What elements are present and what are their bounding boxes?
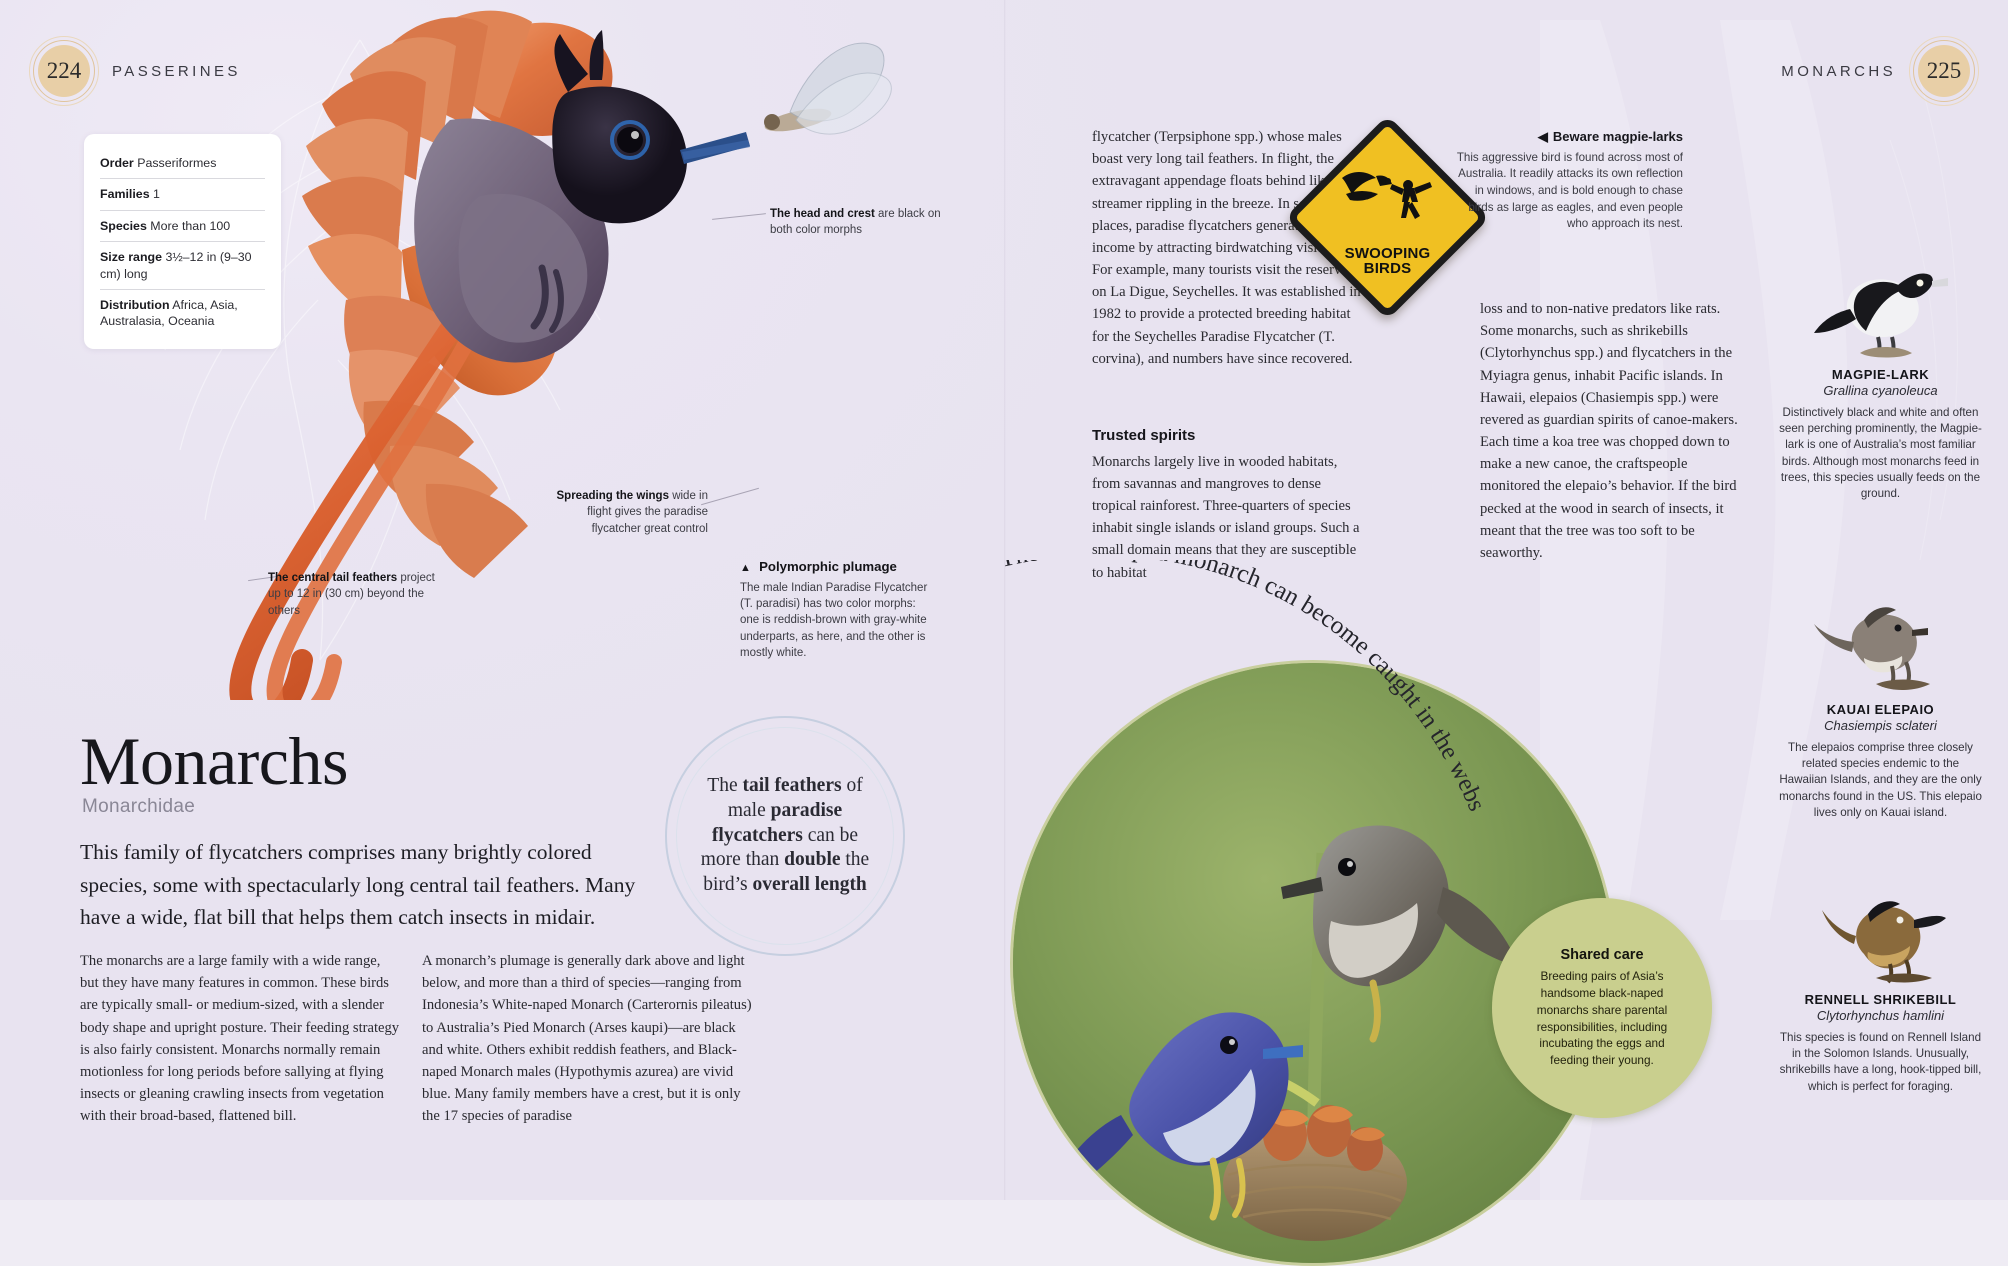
species-card-kauai-elepaio: KAUAI ELEPAIO Chasiempis sclateri The el… [1778, 580, 1983, 821]
page-gutter [1004, 0, 1006, 1200]
pull-quote-part-7: overall length [753, 874, 867, 895]
callout-central-tail-title: The central tail feathers [268, 572, 397, 584]
magpie-lark-photo [1778, 245, 1983, 361]
pull-quote-part-2: of male [728, 775, 863, 821]
info-row-families: Families 1 [100, 179, 265, 210]
callout-polymorphic-body: The male Indian Paradise Flycatcher (T. … [740, 582, 927, 659]
callout-polymorphic-title: Polymorphic plumage [759, 559, 897, 574]
leader-line-wings [701, 488, 759, 505]
callout-head-and-crest: The head and crest are black on both col… [770, 206, 950, 239]
sign-text-line2: BIRDS [1364, 261, 1412, 277]
running-head-right: MONARCHS [1781, 63, 1896, 80]
info-label-species: Species [100, 219, 147, 233]
body-column-right-c: loss and to non-native predators like ra… [1480, 298, 1748, 564]
family-name: Monarchidae [82, 796, 195, 818]
rennell-shrikebill-name: RENNELL SHRIKEBILL [1778, 992, 1983, 1007]
swooping-birds-sign: SWOOPING BIRDS [1288, 118, 1473, 303]
taxonomy-info-box: Order Passeriformes Families 1 Species M… [84, 134, 281, 349]
standfirst-paragraph: This family of flycatchers comprises man… [80, 836, 650, 934]
sign-text-line1: SWOOPING [1345, 246, 1431, 262]
info-value-species: More than 100 [150, 219, 230, 233]
info-row-distribution: Distribution Africa, Asia, Australasia, … [100, 290, 265, 337]
kauai-elepaio-description: The elepaios comprise three closely rela… [1778, 740, 1983, 821]
shared-care-body: Breeding pairs of Asia’s handsome black-… [1522, 968, 1682, 1069]
body-text-left-b: A monarch’s plumage is generally dark ab… [422, 950, 752, 1127]
body-text-right-b: Monarchs largely live in wooded habitats… [1092, 451, 1362, 584]
callout-head-and-crest-title: The head and crest [770, 208, 875, 220]
shared-care-heading: Shared care [1522, 947, 1682, 963]
folio-left: 224 PASSERINES [38, 45, 241, 97]
page-title: Monarchs [80, 722, 348, 801]
sign-inner: SWOOPING BIRDS [1322, 152, 1453, 283]
body-column-right-b: Trusted spirits Monarchs largely live in… [1092, 425, 1362, 584]
magpie-lark-latin: Grallina cyanoleuca [1778, 383, 1983, 398]
kauai-elepaio-latin: Chasiempis sclateri [1778, 718, 1983, 733]
body-column-left-b: A monarch’s plumage is generally dark ab… [422, 950, 752, 1127]
pull-quote-part-3: paradise flycatchers [712, 800, 842, 846]
pull-quote-circle: The tail feathers of male paradise flyca… [665, 716, 905, 956]
body-text-left-a: The monarchs are a large family with a w… [80, 950, 400, 1127]
callout-beware-magpie-larks: ◀Beware magpie-larks This aggressive bir… [1455, 128, 1683, 233]
info-label-families: Families [100, 187, 150, 201]
info-row-species: Species More than 100 [100, 211, 265, 242]
callout-spreading-wings: Spreading the wings wide in flight gives… [548, 488, 708, 537]
callout-beware-body: This aggressive bird is found across mos… [1457, 151, 1683, 231]
folio-right: MONARCHS 225 [1781, 45, 1970, 97]
triangle-up-icon: ▲ [740, 562, 751, 574]
page-number-right: 225 [1918, 45, 1970, 97]
swooping-bird-pictogram-icon [1336, 168, 1440, 224]
running-head-left: PASSERINES [112, 63, 241, 80]
pull-quote-part-1: tail feathers [742, 775, 841, 796]
callout-spreading-wings-title: Spreading the wings [557, 490, 669, 502]
rennell-shrikebill-photo [1778, 870, 1983, 986]
callout-central-tail-feathers: The central tail feathers project up to … [268, 570, 448, 619]
info-row-size-range: Size range 3½–12 in (9–30 cm) long [100, 242, 265, 290]
info-value-order: Passeriformes [137, 156, 216, 170]
body-column-left-a: The monarchs are a large family with a w… [80, 950, 400, 1127]
info-value-families: 1 [153, 187, 160, 201]
magpie-lark-description: Distinctively black and white and often … [1778, 405, 1983, 502]
pull-quote-part-5: double [784, 849, 840, 870]
kauai-elepaio-photo [1778, 580, 1983, 696]
callout-beware-heading-row: ◀Beware magpie-larks [1455, 128, 1683, 147]
shared-care-inner: Shared care Breeding pairs of Asia’s han… [1522, 947, 1682, 1069]
subheading-trusted-spirits: Trusted spirits [1092, 425, 1362, 448]
shared-care-circle: Shared care Breeding pairs of Asia’s han… [1492, 898, 1712, 1118]
pull-quote-part-0: The [707, 775, 742, 796]
magpie-lark-name: MAGPIE-LARK [1778, 367, 1983, 382]
kauai-elepaio-name: KAUAI ELEPAIO [1778, 702, 1983, 717]
pull-quote-part-4: can be more than [701, 825, 858, 871]
pull-quote-text: The tail feathers of male paradise flyca… [693, 774, 877, 899]
spread-page: 224 PASSERINES MONARCHS 225 Order Passer… [0, 0, 2008, 1200]
triangle-left-icon: ◀ [1538, 129, 1548, 144]
species-card-rennell-shrikebill: RENNELL SHRIKEBILL Clytorhynchus hamlini… [1778, 870, 1983, 1095]
rennell-shrikebill-description: This species is found on Rennell Island … [1778, 1030, 1983, 1095]
callout-beware-heading: Beware magpie-larks [1553, 129, 1683, 144]
rennell-shrikebill-latin: Clytorhynchus hamlini [1778, 1008, 1983, 1023]
callout-polymorphic-plumage: ▲ Polymorphic plumage The male Indian Pa… [740, 558, 930, 661]
species-card-magpie-lark: MAGPIE-LARK Grallina cyanoleuca Distinct… [1778, 245, 1983, 502]
pull-quote-part-6: the bird’s [703, 849, 869, 895]
info-label-distribution: Distribution [100, 298, 170, 312]
info-label-size-range: Size range [100, 250, 162, 264]
info-row-order: Order Passeriformes [100, 148, 265, 179]
leader-line-head [712, 213, 766, 220]
body-text-right-c: loss and to non-native predators like ra… [1480, 298, 1748, 564]
page-number-left: 224 [38, 45, 90, 97]
info-label-order: Order [100, 156, 134, 170]
